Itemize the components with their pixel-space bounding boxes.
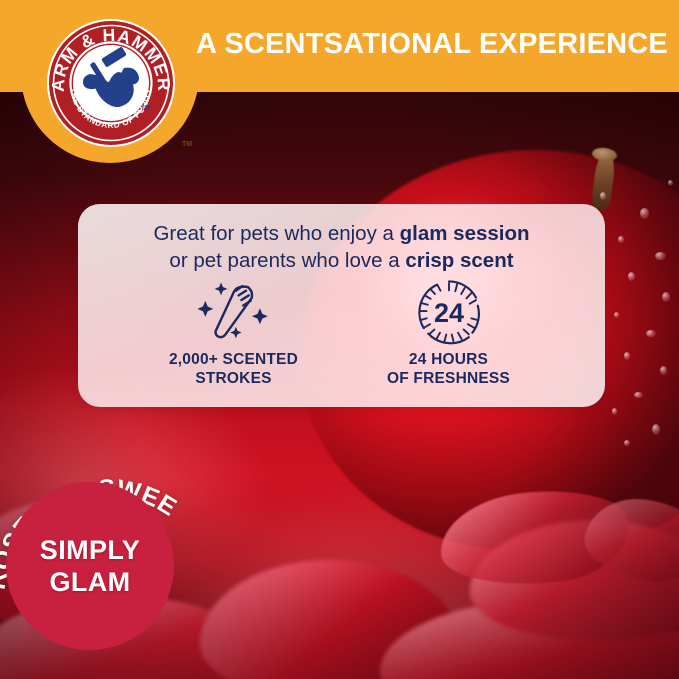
sparkle-brush-icon [186, 276, 282, 348]
simply-glam-badge: ROSE AND SWEET APPLE SIMPLY GLAM [0, 432, 230, 679]
logo-trademark-mark: TM [182, 141, 192, 148]
headline-line2-prefix: or pet parents who love a [169, 249, 405, 272]
stat-label-line2: OF FRESHNESS [387, 370, 510, 387]
banner-title: A SCENTSATIONAL EXPERIENCE [196, 23, 666, 65]
stat-label-line1: 2,000+ SCENTED [169, 351, 298, 368]
headline-line2-bold: crisp scent [405, 249, 513, 272]
stats-row: 2,000+ SCENTED STROKES [126, 276, 556, 388]
clock-24-icon: 24 [413, 276, 485, 348]
headline-line1-prefix: Great for pets who enjoy a [153, 222, 399, 245]
product-feature-image: A SCENTSATIONAL EXPERIENCE ARM & HAMMER … [0, 0, 679, 679]
headline-line1-bold: glam session [400, 222, 530, 245]
card-headline: Great for pets who enjoy a glam session … [78, 220, 605, 274]
glam-title: SIMPLY GLAM [6, 482, 174, 650]
stat-24-hours-label: 24 HOURS OF FRESHNESS [387, 351, 510, 388]
stat-label-line2: STROKES [195, 370, 271, 387]
glam-title-line1: SIMPLY [40, 534, 140, 566]
stat-24-hours-freshness: 24 24 HOURS OF FRESHNESS [341, 276, 556, 388]
stat-label-line1: 24 HOURS [409, 351, 488, 368]
info-card: Great for pets who enjoy a glam session … [78, 204, 605, 407]
stat-scented-strokes: 2,000+ SCENTED STROKES [126, 276, 341, 388]
stat-scented-strokes-label: 2,000+ SCENTED STROKES [169, 351, 298, 388]
clock-icon-value: 24 [433, 298, 463, 328]
svg-text:TM: TM [141, 106, 150, 112]
glam-title-line2: GLAM [49, 566, 130, 598]
arm-and-hammer-logo: ARM & HAMMER THE STANDARD OF PURITY [44, 16, 178, 150]
